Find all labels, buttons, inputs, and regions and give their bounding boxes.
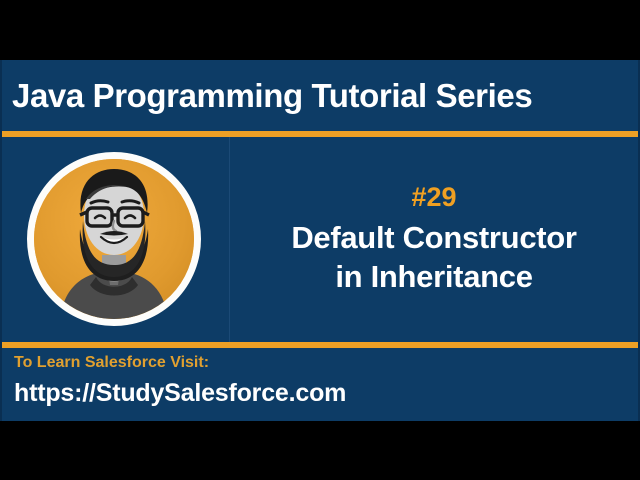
avatar bbox=[27, 152, 201, 326]
video-frame: Java Programming Tutorial Series bbox=[0, 0, 640, 480]
avatar-pane bbox=[2, 137, 229, 342]
slide-header: Java Programming Tutorial Series bbox=[2, 60, 638, 131]
lesson-title-pane: #29 Default Constructor in Inheritance bbox=[230, 137, 638, 342]
slide-body: #29 Default Constructor in Inheritance bbox=[2, 137, 638, 342]
instructor-portrait-icon bbox=[34, 159, 194, 319]
series-title: Java Programming Tutorial Series bbox=[2, 79, 532, 112]
footer-label: To Learn Salesforce Visit: bbox=[14, 353, 638, 374]
lesson-title-line-1: Default Constructor bbox=[291, 219, 576, 258]
footer-url[interactable]: https://StudySalesforce.com bbox=[14, 378, 638, 409]
lesson-title-line-2: in Inheritance bbox=[335, 258, 532, 297]
title-slide: Java Programming Tutorial Series bbox=[0, 60, 640, 421]
slide-footer: To Learn Salesforce Visit: https://Study… bbox=[2, 348, 638, 421]
letterbox-bottom-bar bbox=[0, 421, 640, 480]
letterbox-top-bar bbox=[0, 0, 640, 60]
episode-number: #29 bbox=[411, 182, 456, 213]
